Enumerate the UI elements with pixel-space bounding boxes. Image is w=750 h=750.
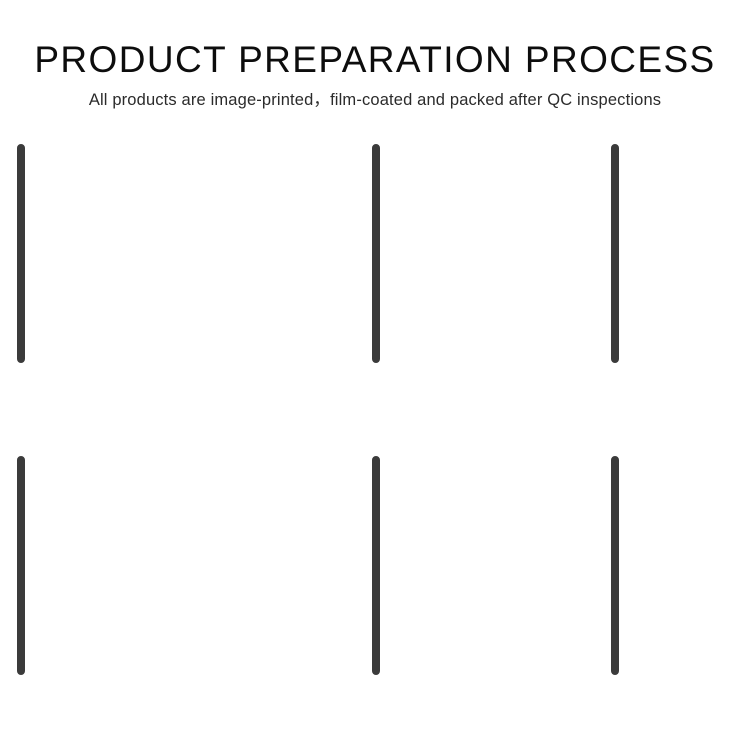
process-step-grid: I II — [17, 144, 733, 675]
process-step-6: VI — [611, 456, 619, 675]
process-step-2: II — [372, 144, 380, 363]
header: PRODUCT PREPARATION PROCESS All products… — [0, 0, 750, 111]
process-step-5: V — [372, 456, 380, 675]
product-preparation-infographic: PRODUCT PREPARATION PROCESS All products… — [0, 0, 750, 750]
page-title: PRODUCT PREPARATION PROCESS — [0, 0, 750, 80]
process-step-1: I — [17, 144, 25, 363]
process-step-3: III — [611, 144, 619, 363]
page-subtitle: All products are image-printed，film-coat… — [0, 80, 750, 111]
process-step-4: Mobile Phone Spare Parts Mobile Phone Sp… — [17, 456, 25, 675]
